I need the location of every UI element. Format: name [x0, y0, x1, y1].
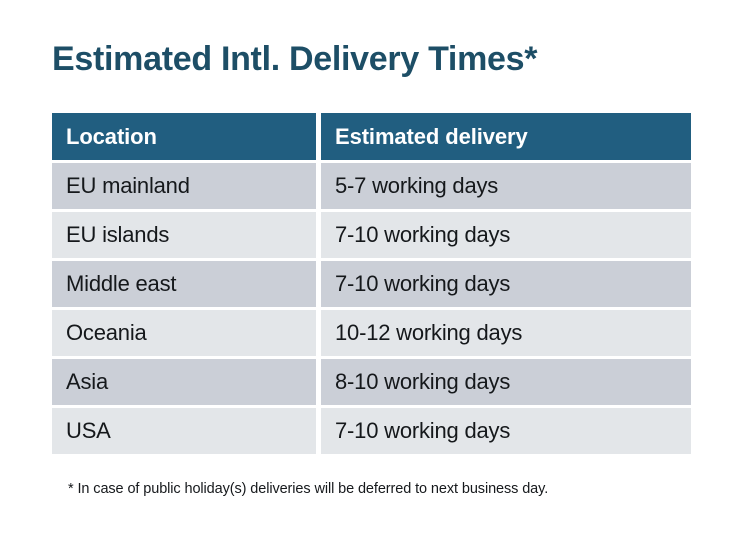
cell-delivery: 5-7 working days	[321, 163, 691, 209]
cell-location: Oceania	[52, 310, 316, 356]
table-row: Middle east 7-10 working days	[52, 261, 691, 307]
table-row: Oceania 10-12 working days	[52, 310, 691, 356]
cell-delivery: 10-12 working days	[321, 310, 691, 356]
cell-location: EU islands	[52, 212, 316, 258]
table-row: EU mainland 5-7 working days	[52, 163, 691, 209]
page-title: Estimated Intl. Delivery Times*	[52, 37, 537, 81]
cell-delivery: 7-10 working days	[321, 261, 691, 307]
cell-location: USA	[52, 408, 316, 454]
cell-location: Asia	[52, 359, 316, 405]
cell-delivery: 7-10 working days	[321, 408, 691, 454]
table-header-row: Location Estimated delivery	[52, 113, 691, 160]
delivery-times-page: Estimated Intl. Delivery Times* Location…	[0, 0, 745, 536]
footnote: * In case of public holiday(s) deliverie…	[68, 479, 548, 499]
cell-delivery: 7-10 working days	[321, 212, 691, 258]
cell-location: Middle east	[52, 261, 316, 307]
cell-delivery: 8-10 working days	[321, 359, 691, 405]
table-row: Asia 8-10 working days	[52, 359, 691, 405]
table-row: EU islands 7-10 working days	[52, 212, 691, 258]
column-header-estimated-delivery: Estimated delivery	[321, 113, 691, 160]
table-row: USA 7-10 working days	[52, 408, 691, 454]
delivery-times-table: Location Estimated delivery EU mainland …	[52, 113, 691, 454]
cell-location: EU mainland	[52, 163, 316, 209]
column-header-location: Location	[52, 113, 316, 160]
